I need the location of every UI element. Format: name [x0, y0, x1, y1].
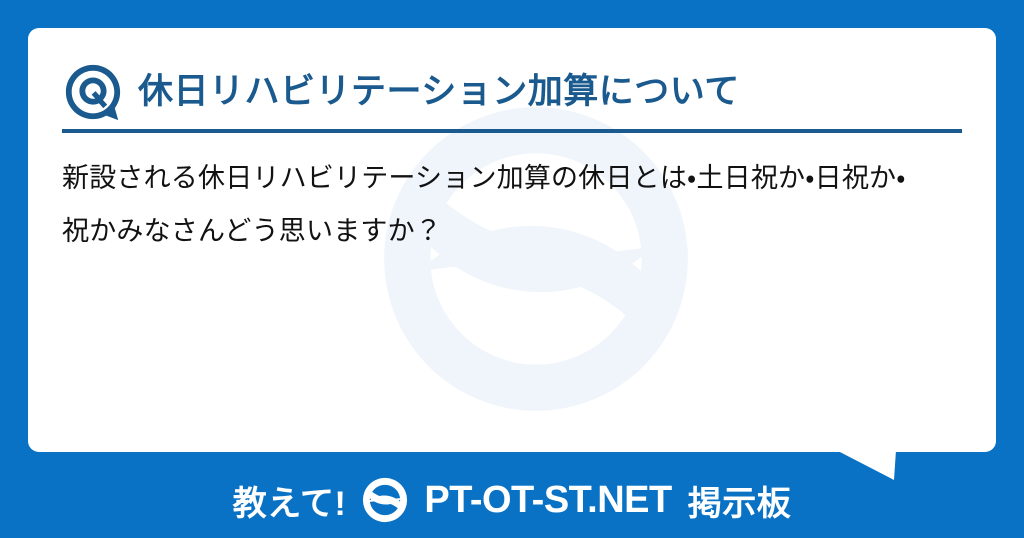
question-body: 新設される休日リハビリテーション加算の休日とは・土日祝か・日祝か・ 祝かみなさん…	[62, 152, 960, 257]
screenshot-stage: 休日リハビリテーション加算について 新設される休日リハビリテーション加算の休日と…	[0, 0, 1024, 538]
footer-brand-bar: 教えて! PT-OT-ST.NET 掲示板	[0, 462, 1024, 538]
footer-lead-label: 教えて!	[233, 476, 347, 525]
question-header: 休日リハビリテーション加算について	[62, 54, 966, 130]
brand-swirl-logo-icon	[362, 477, 408, 523]
question-speech-bubble-icon	[62, 61, 124, 123]
footer-board-label: 掲示板	[688, 476, 792, 525]
question-body-line: 新設される休日リハビリテーション加算の休日とは・土日祝か・日祝か・	[62, 152, 960, 205]
watermark-swirl-logo-icon	[371, 94, 701, 424]
question-body-line: 祝かみなさんどう思いますか？	[62, 205, 960, 258]
question-card: 休日リハビリテーション加算について 新設される休日リハビリテーション加算の休日と…	[28, 28, 996, 452]
footer-brand-label: PT-OT-ST.NET	[424, 479, 671, 522]
question-title: 休日リハビリテーション加算について	[138, 73, 740, 112]
title-divider	[62, 129, 962, 133]
